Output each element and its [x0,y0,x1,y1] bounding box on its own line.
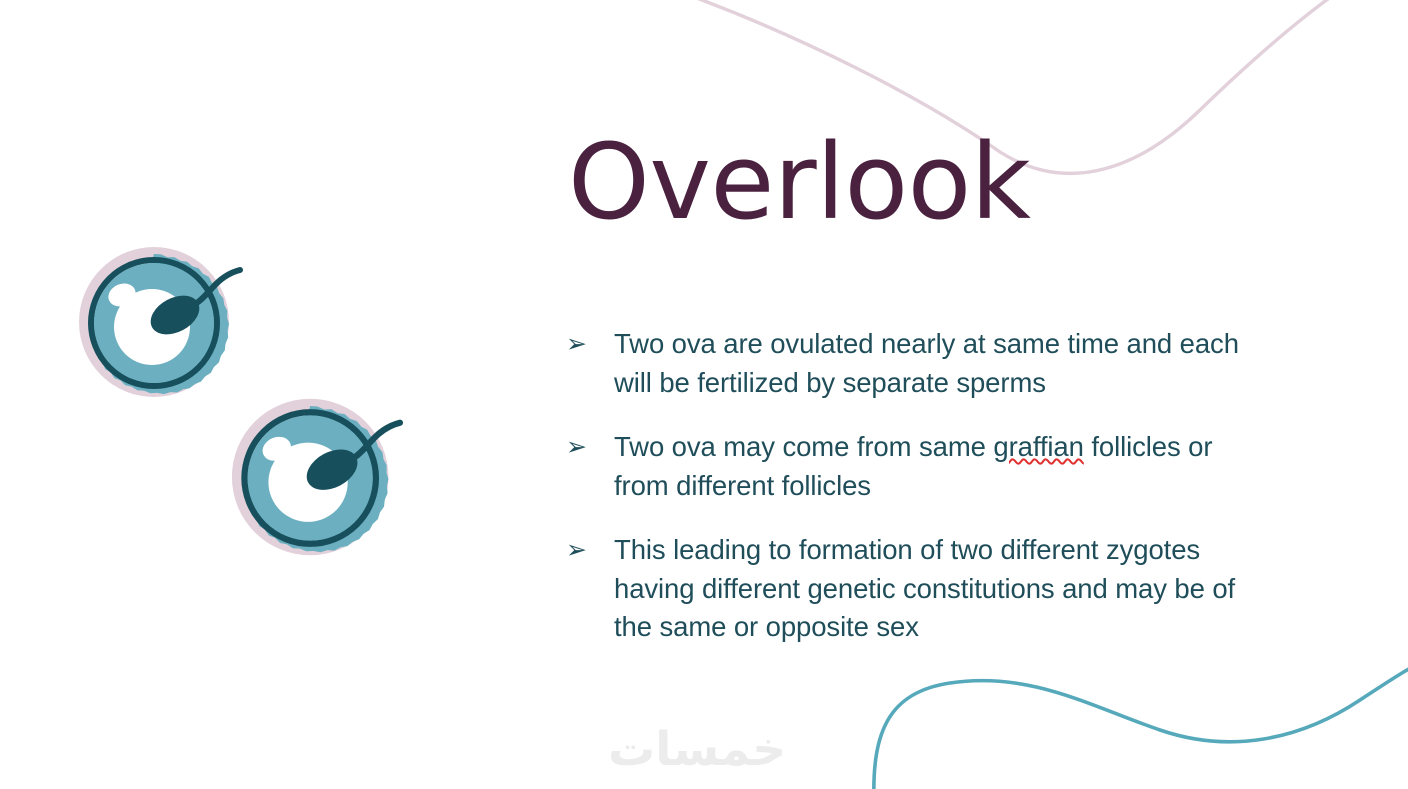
page-title: Overlook [568,124,1031,240]
list-item: ➢ Two ova are ovulated nearly at same ti… [566,325,1266,402]
list-item-text-segment: This leading to formation of two differe… [614,534,1235,642]
list-item-text: Two ova may come from same graffian foll… [614,428,1266,505]
list-item-text-segment: Two ova are ovulated nearly at same time… [614,328,1239,398]
list-item: ➢ This leading to formation of two diffe… [566,531,1266,647]
list-item-text: Two ova are ovulated nearly at same time… [614,325,1266,402]
arrowhead-bullet-icon: ➢ [566,428,614,466]
list-item-text: This leading to formation of two differe… [614,531,1266,647]
arrowhead-bullet-icon: ➢ [566,325,614,363]
list-item-text-segment: Two ova may come from same [614,431,993,462]
teal-swoosh-bottom-icon [874,664,1408,789]
list-item: ➢ Two ova may come from same graffian fo… [566,428,1266,505]
bullet-list: ➢ Two ova are ovulated nearly at same ti… [566,325,1266,647]
slide: Overlook ➢ Two ova are ovulated nearly a… [0,0,1408,789]
spellcheck-misspelled-word: graffian [993,431,1083,462]
watermark: خمسات [608,722,786,777]
ovum-with-sperm-2 [210,382,450,572]
arrowhead-bullet-icon: ➢ [566,531,614,569]
